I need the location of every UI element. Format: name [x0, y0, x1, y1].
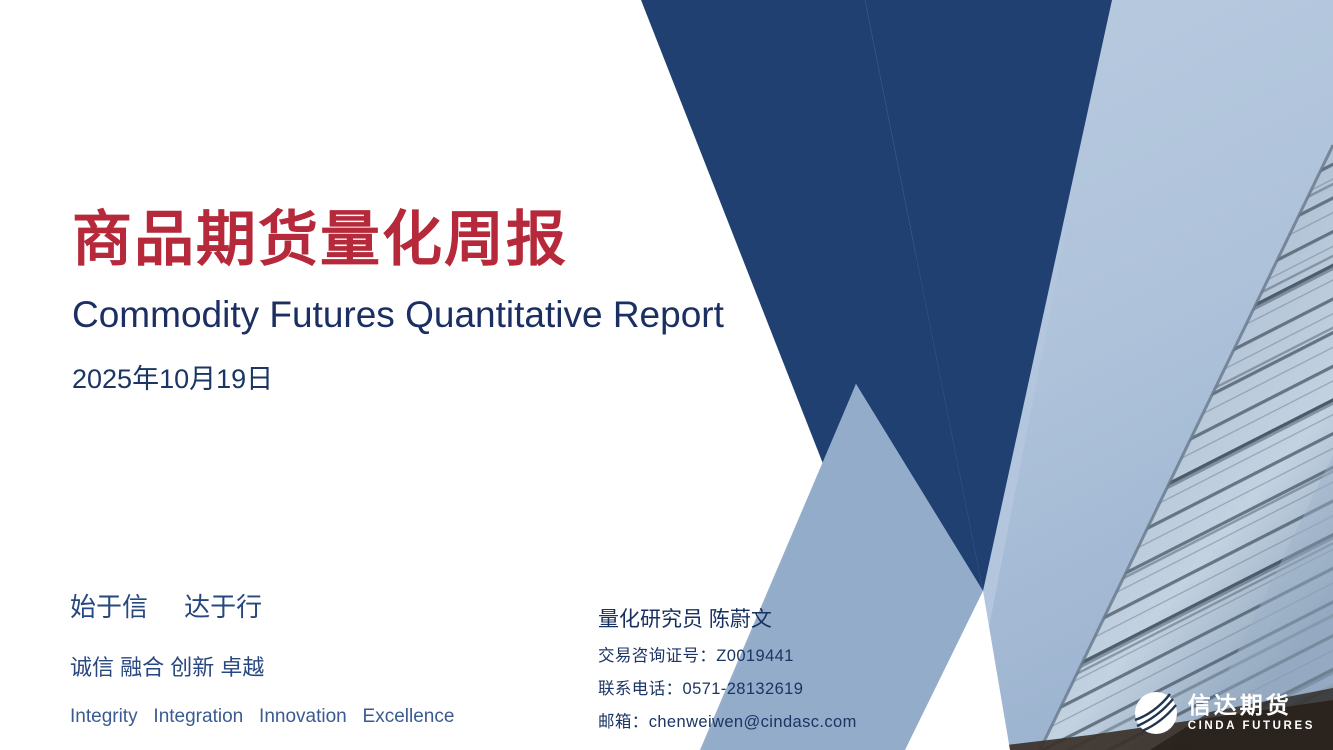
- page-title-chinese: 商品期货量化周报: [72, 208, 792, 273]
- page-title-english: Commodity Futures Quantitative Report: [72, 293, 792, 337]
- report-date: 2025年10月19日: [72, 363, 792, 395]
- slogan-values-english: Integrity Integration Innovation Excelle…: [70, 706, 550, 728]
- logo-wordmark: 信达期货 CINDA FUTURES: [1188, 694, 1315, 733]
- slogan-primary: 始于信 达于行: [70, 587, 550, 624]
- contact-phone: 联系电话：0571-28132619: [598, 675, 928, 699]
- slogan-block: 始于信 达于行 诚信 融合 创新 卓越 Integrity Integratio…: [70, 587, 550, 728]
- certificate-number: 交易咨询证号：Z0019441: [598, 642, 928, 666]
- cover-slide: 商品期货量化周报 Commodity Futures Quantitative …: [0, 0, 1333, 750]
- logo-name-english: CINDA FUTURES: [1188, 721, 1315, 733]
- analyst-name: 量化研究员 陈蔚文: [598, 603, 928, 633]
- slogan-values-chinese: 诚信 融合 创新 卓越: [70, 650, 550, 682]
- company-logo: 信达期货 CINDA FUTURES: [1133, 690, 1315, 736]
- contact-email: 邮箱：chenweiwen@cindasc.com: [598, 708, 928, 732]
- contact-block: 量化研究员 陈蔚文 交易咨询证号：Z0019441 联系电话：0571-2813…: [598, 603, 928, 732]
- swoosh-circle-icon: [1133, 690, 1179, 736]
- title-block: 商品期货量化周报 Commodity Futures Quantitative …: [72, 208, 792, 396]
- logo-name-chinese: 信达期货: [1188, 694, 1315, 717]
